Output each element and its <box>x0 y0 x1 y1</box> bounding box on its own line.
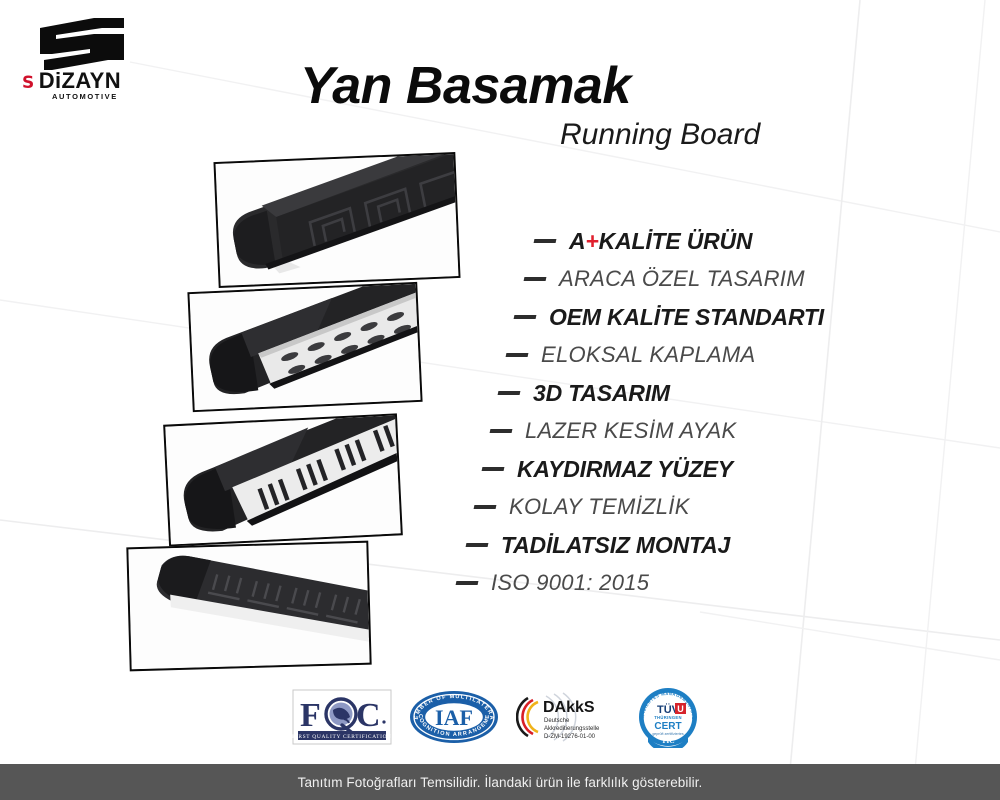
svg-text:Akkreditierungsstelle: Akkreditierungsstelle <box>544 726 600 732</box>
feature-item: 3D TASARIM <box>498 374 910 412</box>
badge-tuv: ZERTIFIZIERTES MANAGEMENTSYSTEM TÜV U TH… <box>636 686 700 748</box>
svg-text:DAkkS: DAkkS <box>543 699 595 716</box>
product-photo-perforated-plate <box>187 282 422 412</box>
bullet-dash-icon <box>506 353 529 357</box>
running-board-black-tread-illustration <box>216 154 459 286</box>
certification-badges: F C FIRST QUALITY CERTIFICATION IAF <box>292 686 712 748</box>
brand-s-letter: S <box>22 75 34 92</box>
svg-text:IAF: IAF <box>435 705 473 730</box>
svg-text:CERT: CERT <box>654 721 681 732</box>
page-title: Yan Basamak <box>300 56 631 116</box>
feature-label: A+KALİTE ÜRÜN <box>569 230 752 253</box>
feature-label: OEM KALİTE STANDARTI <box>549 306 824 329</box>
feature-item: LAZER KESİM AYAK <box>490 412 910 450</box>
iaf-logo-icon: IAF MEMBER OF MULTILATERAL RECOGNITION A… <box>408 689 500 745</box>
footer-bar: Tanıtım Fotoğrafları Temsilidir. İlandak… <box>0 764 1000 800</box>
bullet-dash-icon <box>490 429 513 433</box>
feature-label: KOLAY TEMİZLİK <box>509 496 690 518</box>
bullet-dash-icon <box>514 315 537 319</box>
bullet-dash-icon <box>498 391 521 395</box>
running-board-slotted-plate-illustration <box>165 415 400 544</box>
fqc-logo-icon: F C FIRST QUALITY CERTIFICATION <box>292 689 392 745</box>
bullet-dash-icon <box>466 543 489 547</box>
feature-item: OEM KALİTE STANDARTI <box>514 298 910 336</box>
brand-name: DiZAYN <box>39 70 121 92</box>
bullet-dash-icon <box>534 239 557 243</box>
feature-item: KAYDIRMAZ YÜZEY <box>482 450 910 488</box>
feature-label: ISO 9001: 2015 <box>491 572 649 594</box>
svg-text:U: U <box>677 704 684 714</box>
bullet-dash-icon <box>524 277 547 281</box>
badge-dakks: DAkkS Deutsche Akkreditierungsstelle D-Z… <box>516 690 620 744</box>
svg-text:D-ZM-19276-01-00: D-ZM-19276-01-00 <box>544 734 596 740</box>
product-photo-rubber-profile <box>126 541 371 672</box>
svg-text:C: C <box>356 697 381 734</box>
bullet-dash-icon <box>456 581 479 585</box>
feature-label: ELOKSAL KAPLAMA <box>541 344 755 366</box>
feature-item: ELOKSAL KAPLAMA <box>506 336 910 374</box>
page-subtitle: Running Board <box>560 118 760 152</box>
feature-item: TADİLATSIZ MONTAJ <box>466 526 910 564</box>
svg-text:F: F <box>300 697 321 734</box>
bullet-dash-icon <box>482 467 505 471</box>
brand-logo: S DiZAYN AUTOMOTIVE <box>20 14 160 92</box>
feature-item: ARACA ÖZEL TASARIM <box>524 260 910 298</box>
feature-label: TADİLATSIZ MONTAJ <box>501 534 730 557</box>
running-board-rubber-profile-illustration <box>128 543 369 670</box>
footer-disclaimer: Tanıtım Fotoğrafları Temsilidir. İlandak… <box>298 775 703 790</box>
product-photo-black-tread <box>213 152 460 288</box>
brand-tagline: AUTOMOTIVE <box>52 92 118 101</box>
feature-label: 3D TASARIM <box>533 382 670 405</box>
s-dizayn-logo-mark <box>32 14 128 72</box>
feature-item: ISO 9001: 2015 <box>456 564 910 602</box>
feature-label: LAZER KESİM AYAK <box>525 420 736 442</box>
badge-iaf: IAF MEMBER OF MULTILATERAL RECOGNITION A… <box>408 689 500 745</box>
brand-wordmark: S DiZAYN <box>22 70 121 92</box>
badge-fqc: F C FIRST QUALITY CERTIFICATION <box>292 689 392 745</box>
svg-text:FIRST QUALITY CERTIFICATION: FIRST QUALITY CERTIFICATION <box>292 734 392 740</box>
bullet-dash-icon <box>474 505 497 509</box>
svg-text:Deutsche: Deutsche <box>544 718 570 724</box>
svg-text:TIC: TIC <box>661 736 674 745</box>
feature-item: KOLAY TEMİZLİK <box>474 488 910 526</box>
feature-label: ARACA ÖZEL TASARIM <box>559 268 805 290</box>
tuv-cert-logo-icon: ZERTIFIZIERTES MANAGEMENTSYSTEM TÜV U TH… <box>636 686 700 748</box>
dakks-logo-icon: DAkkS Deutsche Akkreditierungsstelle D-Z… <box>516 690 620 744</box>
product-photo-slotted-plate <box>163 413 403 546</box>
feature-list: A+KALİTE ÜRÜN ARACA ÖZEL TASARIM OEM KAL… <box>440 222 910 602</box>
feature-label: KAYDIRMAZ YÜZEY <box>517 458 733 481</box>
feature-item: A+KALİTE ÜRÜN <box>534 222 910 260</box>
svg-text:THÜRINGEN: THÜRINGEN <box>654 715 682 720</box>
product-banner: S DiZAYN AUTOMOTIVE Yan Basamak Running … <box>0 0 1000 800</box>
running-board-perforated-plate-illustration <box>189 284 420 410</box>
